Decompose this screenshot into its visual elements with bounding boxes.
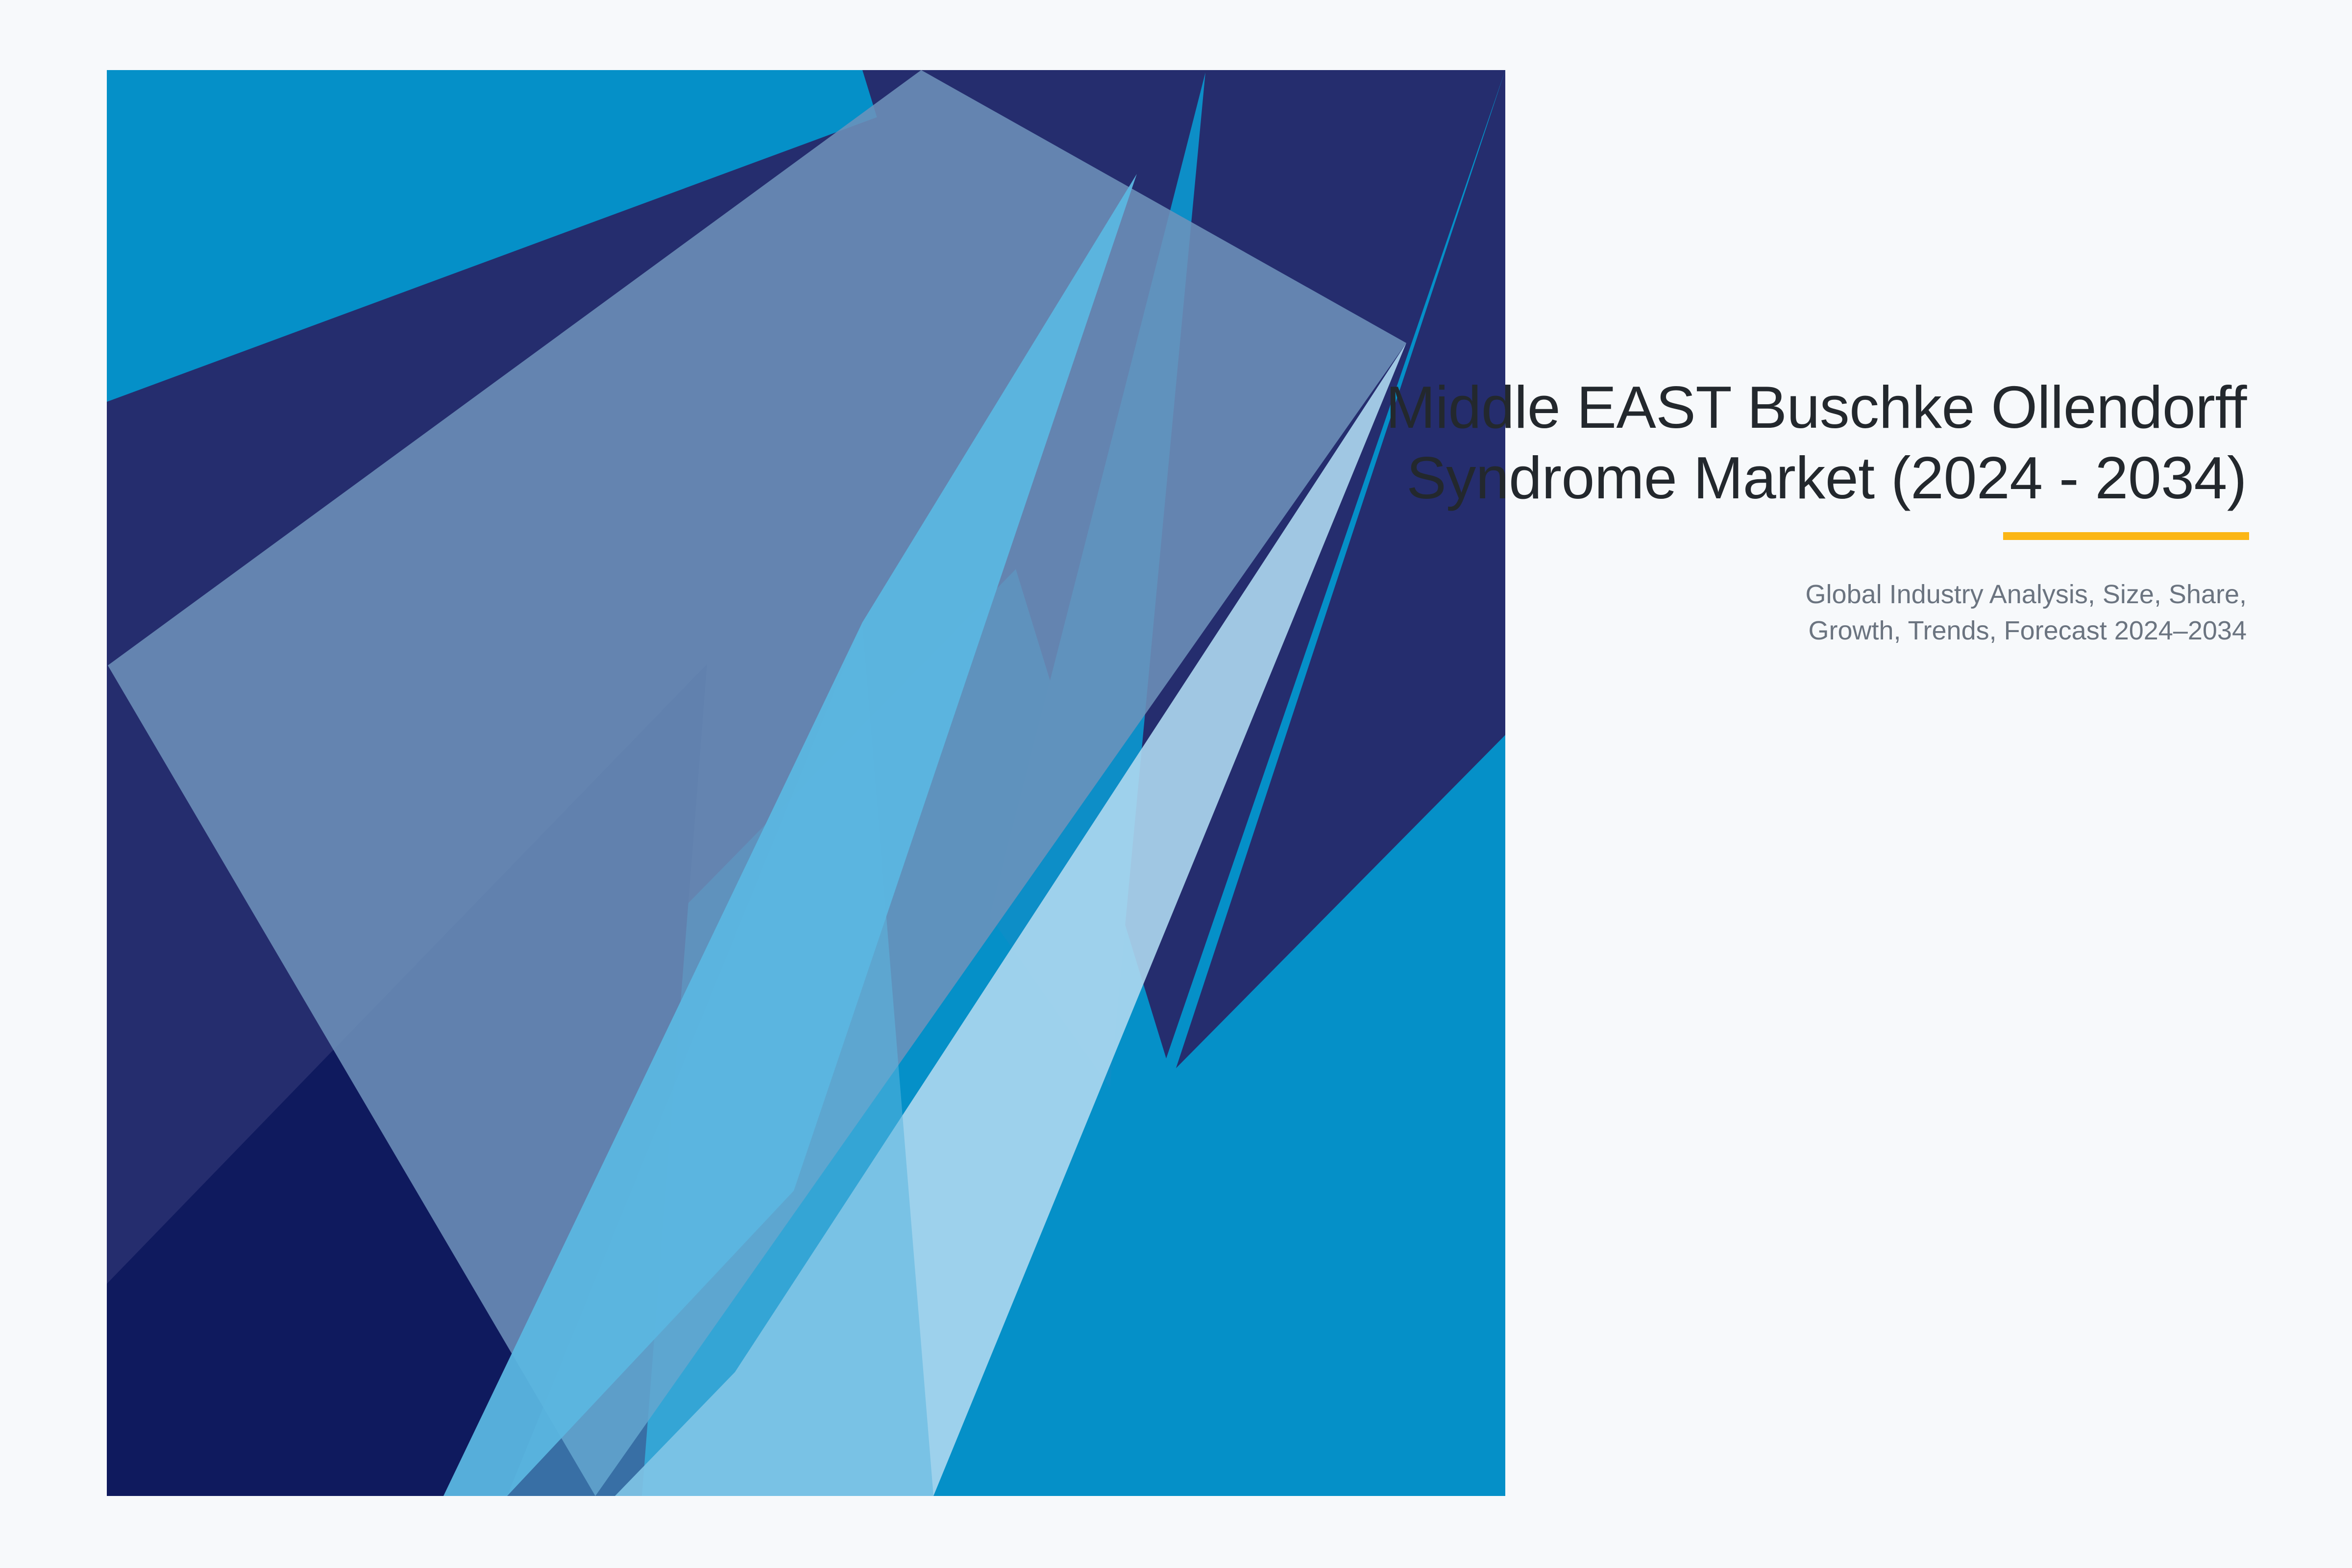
page-title: Middle EAST Buschke Ollendorff Syndrome … [1049, 372, 2247, 514]
abstract-geometric-artwork [0, 0, 2352, 1568]
report-cover-page: Middle EAST Buschke Ollendorff Syndrome … [0, 0, 2352, 1568]
cover-text-block: Middle EAST Buschke Ollendorff Syndrome … [1049, 372, 2247, 649]
page-subtitle: Global Industry Analysis, Size, Share, G… [1049, 576, 2247, 649]
